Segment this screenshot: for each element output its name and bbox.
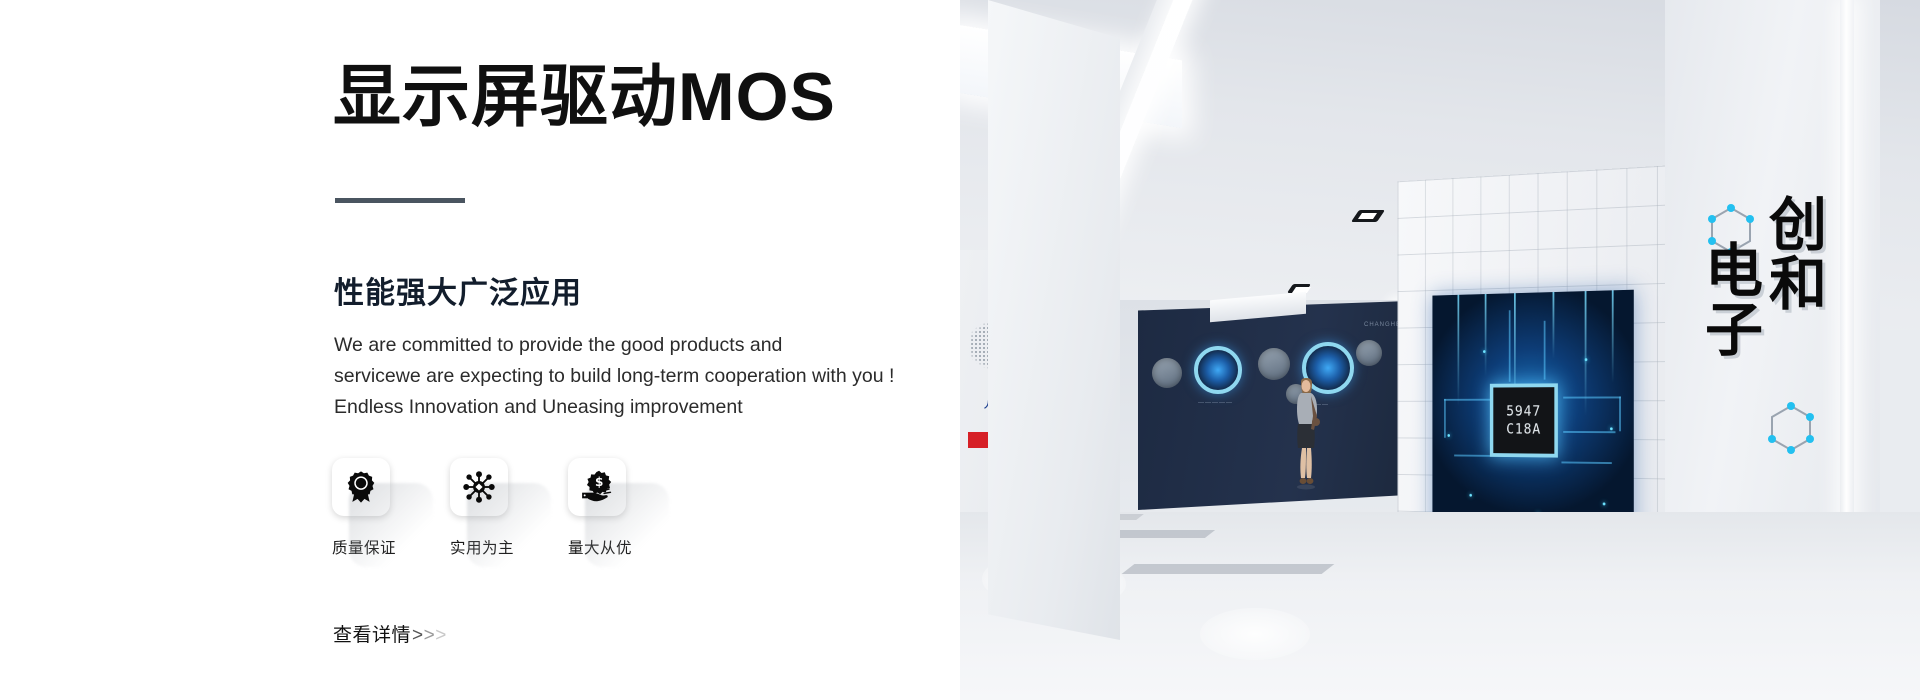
award-medal-icon [344, 470, 378, 504]
description-line-3: Endless Innovation and Uneasing improvem… [334, 392, 894, 423]
chevron-right-icon-1: > [412, 625, 424, 647]
description-line-1: We are committed to provide the good pro… [334, 330, 894, 361]
chip-label-line1: 5947 [1506, 403, 1541, 421]
screen-trace-3 [1563, 396, 1621, 398]
person-woman [1290, 378, 1322, 490]
chip-graphic: 5947 C18A [1490, 383, 1558, 457]
subtitle: 性能强大广泛应用 [334, 268, 582, 312]
exhibit-wall-caption-1: ————— [1198, 400, 1233, 406]
sign-char-dian: 电 [1705, 242, 1763, 301]
hexagon-molecule-icon-bottom [1765, 400, 1817, 458]
screen-trace-5 [1563, 431, 1615, 433]
floor-band-2 [1122, 564, 1335, 574]
page-title: 显示屏驱动MOS [333, 58, 836, 136]
screen-streak-6 [1612, 290, 1614, 383]
screen-node-2 [1610, 427, 1613, 430]
screen-node-3 [1483, 350, 1486, 353]
screen-node-9 [1603, 502, 1606, 505]
screen-trace-6 [1454, 455, 1491, 457]
description-line-2: servicewe are expecting to build long-te… [334, 361, 894, 392]
title-divider [335, 198, 465, 203]
screen-node-8 [1469, 494, 1472, 497]
sign-column-right: 创 和 [1769, 196, 1827, 360]
text-panel: 显示屏驱动MOS 性能强大广泛应用 We are committed to pr… [0, 0, 960, 700]
description-paragraph: We are committed to provide the good pro… [334, 330, 894, 423]
screen-trace-1 [1444, 399, 1490, 401]
svg-text:$: $ [595, 475, 603, 489]
screen-streak-2 [1485, 294, 1487, 376]
sign-char-chuang: 创 [1769, 196, 1827, 255]
exhibit-medallion-2 [1258, 348, 1290, 380]
network-hub-icon [462, 470, 496, 504]
company-wall-sign: 电 子 创 和 [1705, 196, 1827, 360]
view-details-label: 查看详情 [333, 620, 411, 647]
view-details-link[interactable]: 查看详情>>> [333, 620, 447, 647]
chevron-right-icon-2: > [424, 625, 436, 647]
chevron-right-icon-3: > [435, 625, 447, 647]
exhibit-medallion-1 [1152, 358, 1182, 388]
exhibit-medallion-chip-1 [1194, 346, 1242, 394]
showroom-photo: ————— ——— CHANGHE YOUDIAN 人 [960, 0, 1920, 700]
screen-streak-4 [1553, 292, 1555, 359]
screen-trace-7 [1561, 461, 1611, 463]
feature-badge-quality[interactable] [332, 458, 390, 516]
chip-label-line2: C18A [1506, 420, 1541, 438]
screen-node-1 [1447, 434, 1450, 437]
feature-badge-bulk-discount[interactable]: $ [568, 458, 626, 516]
feature-badge-practical[interactable] [450, 458, 508, 516]
feature-item-practical[interactable]: 实用为主 [450, 458, 510, 558]
exhibit-medallion-4 [1356, 340, 1382, 366]
feature-item-quality[interactable]: 质量保证 [332, 458, 392, 558]
screen-trace-4 [1619, 396, 1620, 431]
screen-node-4 [1585, 358, 1588, 361]
exhibit-wall: ————— ——— CHANGHE YOUDIAN [1138, 300, 1438, 510]
foreground-column [988, 0, 1120, 640]
screen-trace-2 [1444, 399, 1445, 438]
ceiling-spotlight-1 [1351, 210, 1385, 222]
sign-char-he: 和 [1769, 255, 1827, 314]
screen-streak-1 [1458, 295, 1460, 406]
screen-trace-8 [1509, 310, 1510, 382]
feature-list: 质量保证 [332, 458, 628, 558]
sign-char-zi: 子 [1705, 301, 1763, 360]
product-banner: 显示屏驱动MOS 性能强大广泛应用 We are committed to pr… [0, 0, 1920, 700]
sign-column-left: 电 子 [1705, 242, 1763, 360]
screen-trace-9 [1544, 321, 1545, 380]
floor-reflection-3 [1200, 608, 1310, 660]
money-in-hand-icon: $ [580, 470, 614, 504]
feature-item-bulk-discount[interactable]: $ 量大从优 [568, 458, 628, 558]
